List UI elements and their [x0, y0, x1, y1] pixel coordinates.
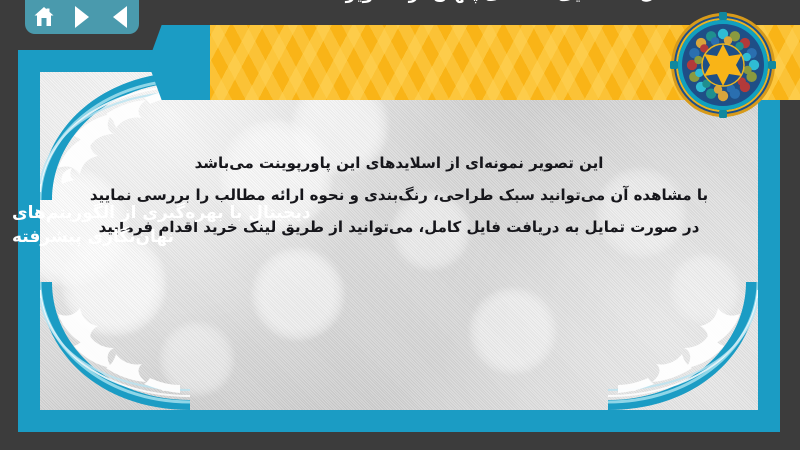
slide-screenshot: این تصویر نمونه‌ای از اسلایدهای این پاور…: [0, 0, 800, 450]
navigation-toolbar[interactable]: [25, 0, 139, 34]
title-line-2: دیجیتال با بهره‌گیری از الگوریتم‌های: [12, 201, 311, 225]
title-line-3: نهان‌نگاری پیشرفته: [12, 225, 174, 249]
persian-mandala-medallion-icon: [670, 12, 776, 118]
home-icon: [32, 5, 56, 29]
home-button[interactable]: [31, 4, 57, 30]
title-line-1: کامل شناسایی داده‌های پنهان در تصاویر: [346, 0, 682, 6]
previous-slide-button[interactable]: [107, 4, 133, 30]
next-slide-button[interactable]: [69, 4, 95, 30]
triangle-left-icon: [113, 6, 127, 28]
triangle-right-icon: [75, 6, 89, 28]
